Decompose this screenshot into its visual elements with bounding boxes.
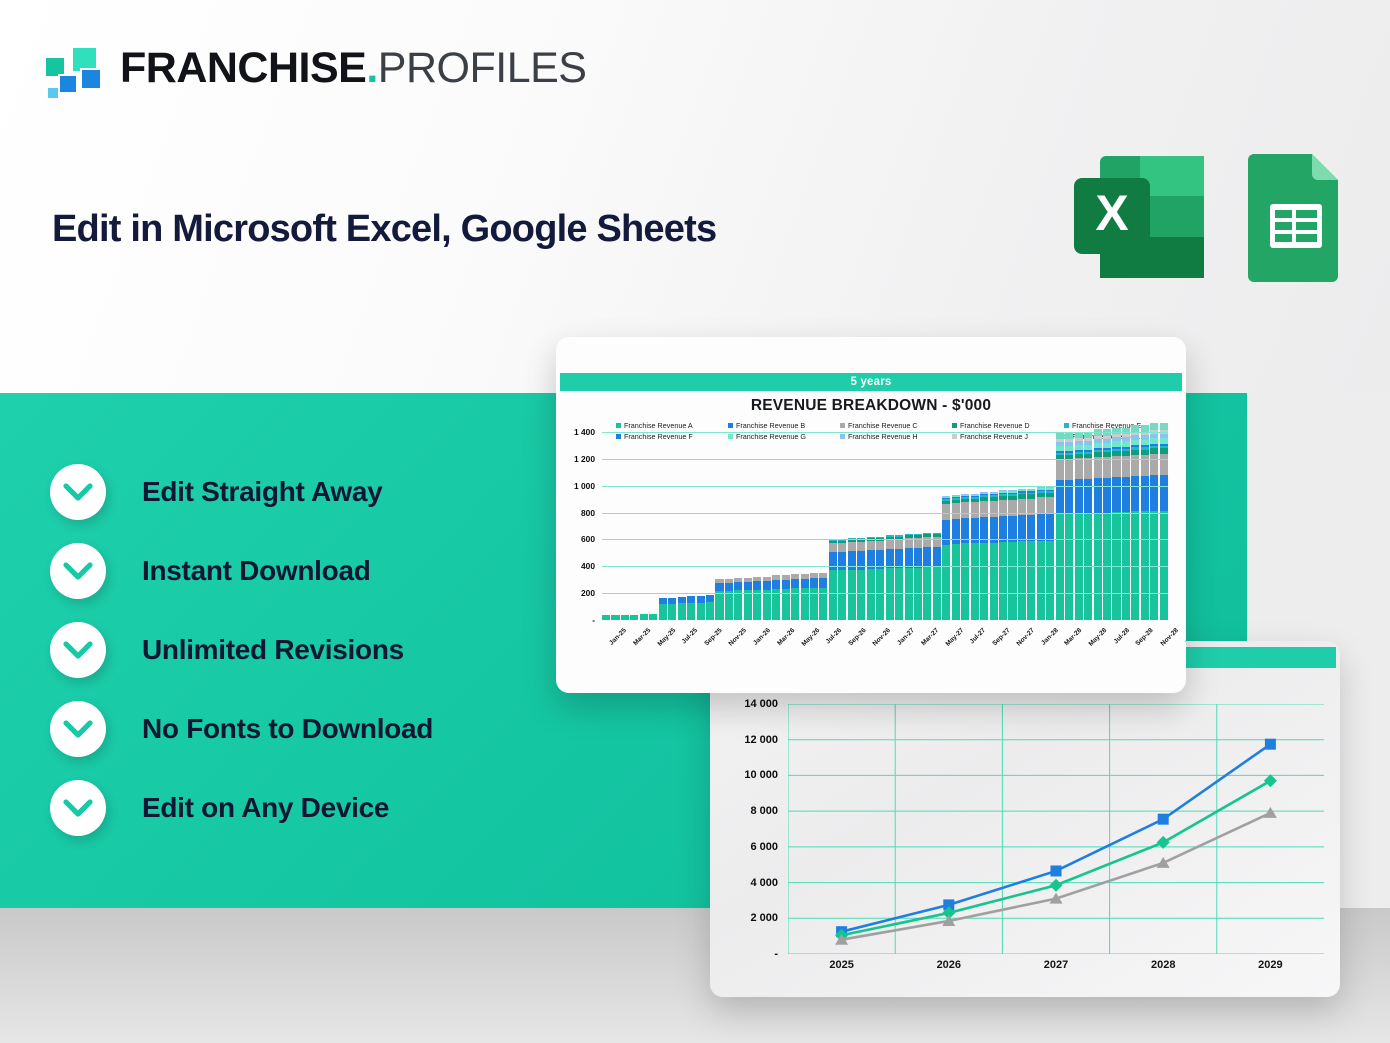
bar-segment [611,615,619,620]
data-point-marker [1158,814,1169,825]
x-axis-tick: 2028 [1110,959,1217,985]
brand-name-bold: FRANCHISE [120,44,366,92]
bar-segment [1160,454,1168,476]
bar-segment [1122,477,1130,512]
legend-item: Franchise Revenue B [728,421,836,430]
bar-segment [1008,500,1016,517]
brand-wordmark: FRANCHISE.PROFILES [120,44,586,93]
bar-segment [668,604,676,620]
bar-column [697,596,705,620]
data-point-marker [1157,857,1170,868]
y-axis-tick: 800 [581,508,595,518]
bar-segment [697,603,705,620]
bar-segment [819,578,827,588]
bar-segment [923,547,931,567]
bar-column [659,598,667,620]
bar-column [611,615,619,620]
bar-segment [829,570,837,620]
bar-column [1027,489,1035,620]
bar-segment [1075,458,1083,479]
bar-column [801,574,809,620]
bar-column [942,496,950,620]
bar-segment [961,543,969,620]
bar-segment [933,537,941,547]
bar-column [876,537,884,620]
chart-xaxis-margin: 20252026202720282029 [788,959,1324,985]
bar-column [687,596,695,620]
bar-segment [763,590,771,620]
bar-segment [895,539,903,548]
bar-segment [923,537,931,547]
y-axis-tick: 14 000 [744,698,778,710]
gridline [602,432,1168,433]
bar-segment [706,602,714,620]
y-axis-tick: 6 000 [750,841,778,853]
feature-item[interactable]: No Fonts to Download [50,699,690,759]
bar-column [857,538,865,620]
bar-column [886,535,894,620]
bar-segment [763,581,771,590]
bar-segment [1084,479,1092,513]
bar-column [630,615,638,620]
bar-segment [1075,479,1083,513]
feature-label: Edit Straight Away [142,476,382,508]
bar-column [734,578,742,620]
bar-segment [1150,454,1158,476]
bar-segment [933,547,941,567]
feature-label: Instant Download [142,555,371,587]
bar-segment [867,541,875,550]
bar-segment [1094,457,1102,478]
bar-column [1131,425,1139,620]
bar-segment [801,579,809,588]
bar-segment [876,569,884,620]
bar-column [1160,423,1168,620]
legend-label: Franchise Revenue C [848,421,918,430]
y-axis-tick: - [774,948,778,960]
bar-segment [876,541,884,550]
bar-segment [1037,541,1045,620]
bar-segment [1160,511,1168,620]
bar-column [848,538,856,620]
bar-segment [630,615,638,620]
bar-segment [1160,475,1168,510]
bar-segment [952,544,960,620]
bar-column [744,578,752,620]
bar-column [952,495,960,620]
bar-column [763,577,771,620]
bar-column [791,574,799,620]
legend-item: Franchise Revenue A [616,421,724,430]
bar-segment [725,583,733,591]
bar-segment [715,591,723,620]
bar-segment [952,503,960,519]
gridline [602,566,1168,567]
page-title: Edit in Microsoft Excel, Google Sheets [52,208,872,251]
bar-segment [990,501,998,517]
bar-segment [649,614,657,620]
x-axis-tick: 2027 [1002,959,1109,985]
bar-segment [1160,423,1168,430]
legend-swatch [1064,423,1069,428]
bar-column [829,540,837,620]
bar-column [782,575,790,620]
bar-column [602,615,610,620]
bar-segment [1103,478,1111,512]
bar-segment [1065,460,1073,480]
bar-segment [999,516,1007,542]
bar-column [990,492,998,620]
bar-segment [1150,475,1158,510]
bar-segment [829,552,837,571]
bar-segment [734,590,742,620]
chevron-down-icon [50,701,106,757]
bar-column [1018,489,1026,620]
bar-segment [838,543,846,551]
bar-segment [1131,476,1139,511]
bar-segment [1103,457,1111,478]
x-axis-tick: 2029 [1217,959,1324,985]
bar-segment [744,582,752,591]
bar-segment [980,543,988,620]
bar-segment [905,548,913,568]
bar-column [1122,428,1130,620]
data-point-marker [1051,865,1062,876]
brand-name-light: PROFILES [378,44,587,92]
bar-segment [602,615,610,620]
data-point-marker [1264,774,1277,787]
bar-segment [961,502,969,518]
chevron-down-icon [50,543,106,599]
legend-swatch [728,423,733,428]
bar-segment [734,582,742,591]
legend-swatch [840,423,845,428]
bar-column [923,533,931,621]
chevron-down-icon [50,464,106,520]
bar-segment [753,590,761,620]
chart-title-revenue: REVENUE BREAKDOWN - $'000 [556,397,1186,415]
bar-segment [857,542,865,551]
bar-segment [1150,423,1158,430]
bar-column [1046,487,1054,620]
x-axis-tick: 2025 [788,959,895,985]
bar-segment [867,569,875,620]
bar-segment [1150,511,1158,620]
card-ribbon-5-years: 5 years [560,373,1182,391]
squares-logo-icon [44,46,102,98]
bar-segment [1056,460,1064,480]
x-axis-tick: 2026 [895,959,1002,985]
bar-column [1112,428,1120,620]
gross-margin-card[interactable]: ber 2029 oss Margin -2 0004 0006 0008 00… [710,641,1340,997]
bar-segment [999,542,1007,620]
y-axis-tick: 400 [581,561,595,571]
bar-column [640,614,648,620]
bar-segment [1027,515,1035,541]
bar-segment [1008,542,1016,620]
gridline [602,539,1168,540]
bar-column [905,534,913,620]
data-point-marker [1265,739,1276,750]
bar-segment [838,570,846,620]
bar-column [1056,433,1064,620]
y-axis-tick: 1 000 [574,481,595,491]
bar-column [621,615,629,620]
legend-item: Franchise Revenue C [840,421,948,430]
bar-segment [1018,515,1026,541]
bar-column [914,534,922,620]
y-axis-tick: 10 000 [744,769,778,781]
y-axis-tick: 200 [581,588,595,598]
bar-segment [810,578,818,588]
bar-column [1008,490,1016,620]
legend-swatch [616,423,621,428]
data-point-marker [1264,807,1277,818]
bar-segment [1046,514,1054,540]
chart-xaxis-revenue: Jan-25Mar-25May-25Jul-25Sep-25Nov-25Jan-… [602,623,1168,685]
bar-column [678,597,686,620]
bar-segment [1084,458,1092,479]
bar-segment [914,548,922,568]
bar-segment [990,543,998,620]
chevron-down-icon [50,622,106,678]
bar-column [1141,425,1149,620]
bar-segment [886,539,894,548]
bar-column [1065,433,1073,620]
legend-label: Franchise Revenue B [736,421,805,430]
bar-segment [744,590,752,620]
bar-column [649,614,657,620]
bar-segment [640,614,648,620]
bar-segment [678,603,686,620]
bar-segment [1141,476,1149,511]
bar-column [1037,487,1045,620]
bar-segment [753,581,761,590]
gridline [602,593,1168,594]
app-icons-group: X [1070,148,1346,286]
bar-segment [886,568,894,620]
microsoft-excel-icon: X [1070,148,1210,286]
data-point-marker [1050,879,1063,892]
y-axis-tick: 12 000 [744,734,778,746]
feature-label: No Fonts to Download [142,713,433,745]
legend-swatch [952,423,957,428]
y-axis-tick: 2 000 [750,912,778,924]
line-chart-svg [788,704,1324,954]
gridline [602,513,1168,514]
legend-label: Franchise Revenue D [960,421,1030,430]
legend-item: Franchise Revenue D [952,421,1060,430]
y-axis-tick: - [592,615,595,625]
chart-yaxis-margin: -2 0004 0006 0008 00010 00012 00014 000 [710,704,784,954]
line-series [842,781,1271,935]
bar-column [725,579,733,620]
brand-logo[interactable]: FRANCHISE.PROFILES [44,44,564,106]
bar-segment [999,500,1007,517]
bar-segment [1112,477,1120,512]
bar-segment [895,568,903,620]
bar-segment [1037,514,1045,540]
bar-column [772,575,780,620]
bar-column [838,540,846,620]
bar-segment [1046,541,1054,620]
gridline [602,459,1168,460]
bar-segment [715,583,723,591]
bar-column [895,535,903,620]
y-axis-tick: 8 000 [750,805,778,817]
y-axis-tick: 600 [581,534,595,544]
bar-segment [829,543,837,551]
bar-segment [971,543,979,620]
bar-segment [1018,541,1026,620]
bar-column [668,598,676,620]
bar-column [867,537,875,620]
bar-segment [857,570,865,620]
bar-segment [1027,541,1035,620]
chart-yaxis-revenue: -2004006008001 0001 2001 400 [556,432,598,620]
svg-text:X: X [1095,185,1128,241]
bar-column [1150,423,1158,620]
bar-segment [1008,516,1016,542]
bar-segment [706,595,714,602]
y-axis-tick: 1 200 [574,454,595,464]
bar-segment [725,591,733,620]
bar-segment [621,615,629,620]
google-sheets-icon [1246,148,1346,282]
bar-column [980,492,988,620]
bar-segment [772,580,780,589]
bar-column [810,573,818,620]
bar-segment [980,501,988,517]
feature-item[interactable]: Edit on Any Device [50,778,690,838]
bar-segment [942,520,950,545]
bar-segment [848,542,856,551]
bar-column [819,573,827,620]
bar-column [933,533,941,621]
bar-segment [782,580,790,589]
gridline [602,486,1168,487]
revenue-breakdown-card[interactable]: 5 years REVENUE BREAKDOWN - $'000 Franch… [556,337,1186,693]
bar-segment [791,579,799,588]
bar-column [753,577,761,620]
chart-plot-margin [788,704,1324,954]
y-axis-tick: 1 400 [574,427,595,437]
bar-segment [838,552,846,571]
feature-label: Edit on Any Device [142,792,389,824]
bar-segment [942,545,950,620]
chevron-down-icon [50,780,106,836]
bar-segment [659,604,667,620]
chart-plot-revenue [602,432,1168,620]
bar-column [999,490,1007,620]
bar-segment [1094,478,1102,512]
brand-name-dot: . [366,44,377,92]
bar-segment [971,502,979,518]
feature-label: Unlimited Revisions [142,634,404,666]
bar-column [715,579,723,620]
bar-column [706,595,714,620]
legend-label: Franchise Revenue A [624,421,693,430]
y-axis-tick: 4 000 [750,877,778,889]
bar-segment [848,570,856,620]
bar-segment [687,603,695,620]
